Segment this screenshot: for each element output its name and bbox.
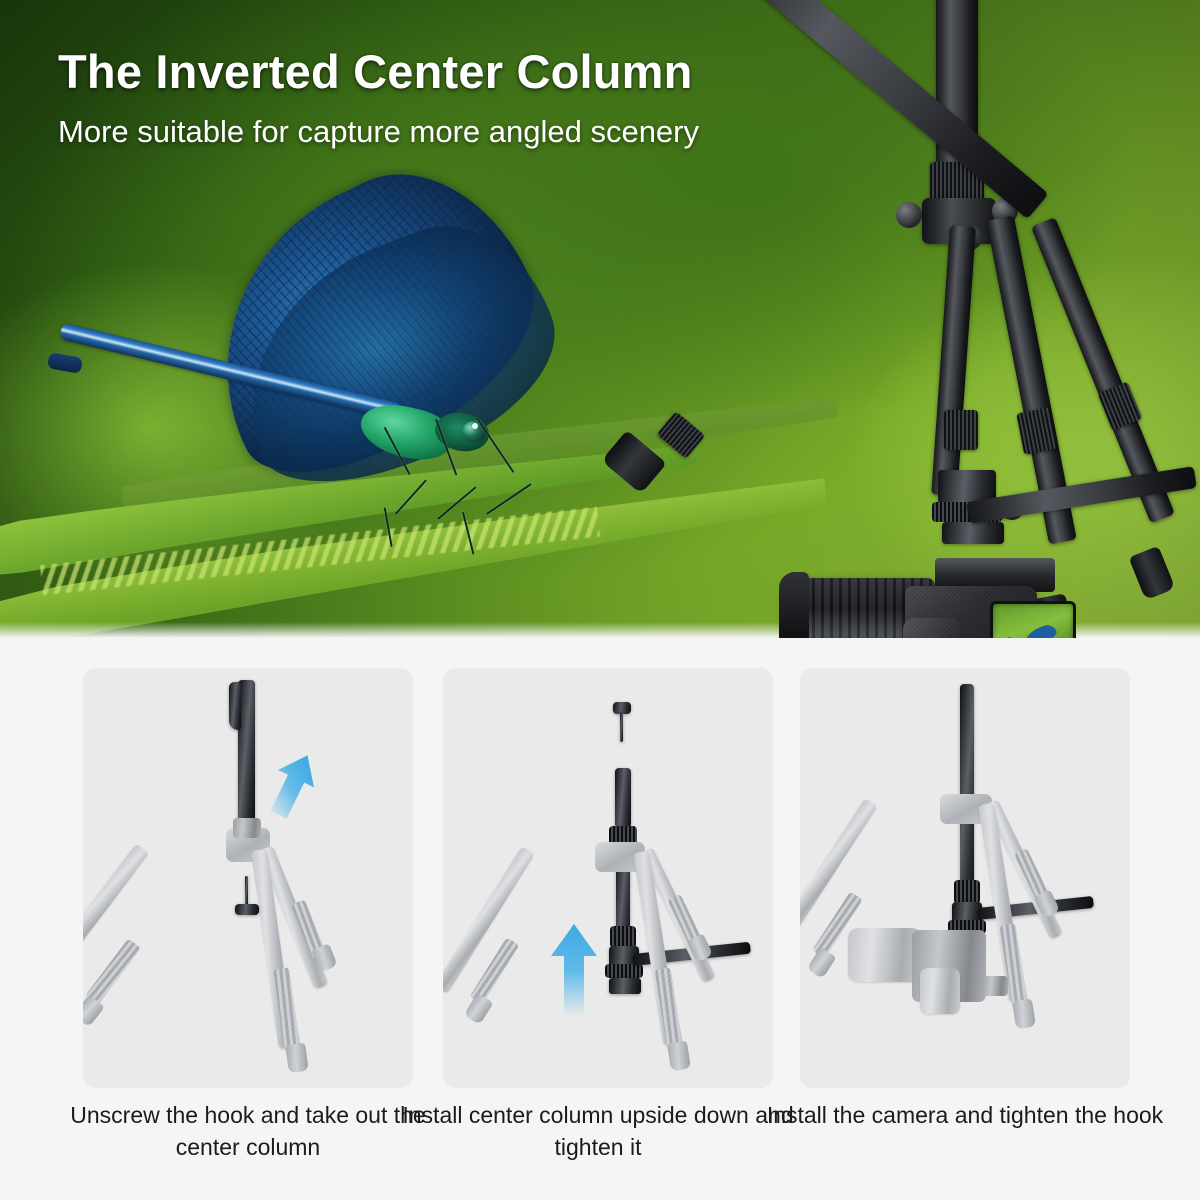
damselfly-legs — [350, 440, 570, 600]
camera-lcd-screen — [993, 604, 1073, 638]
camera-lens-hood — [779, 572, 809, 638]
tripod-product-photo — [700, 0, 1200, 638]
step-captions: Unscrew the hook and take out the center… — [0, 1100, 1200, 1190]
ball-head-lock-inverted — [605, 964, 643, 978]
step-panel-2 — [443, 668, 773, 1088]
step-caption-3: Install the camera and tighten the hook — [765, 1100, 1165, 1132]
detached-column-hook-tab — [229, 682, 241, 730]
tripod-center-rear-lock — [944, 410, 978, 450]
page-title: The Inverted Center Column — [58, 44, 699, 99]
ghost-camera-viewfinder — [982, 976, 1008, 996]
tripod-leg-inverted-arm — [706, 0, 1049, 219]
step-2-arrow-icon — [547, 922, 601, 1018]
quick-release-plate-inverted — [609, 978, 641, 994]
damselfly-eye-highlight — [472, 423, 478, 429]
tripod-leg-left-foot-ghost-2 — [464, 993, 494, 1025]
tripod-leg-angle-knob-left — [896, 202, 922, 228]
hero-text-block: The Inverted Center Column More suitable… — [58, 44, 699, 151]
tripod-leg-right-foot-ghost — [285, 1043, 309, 1074]
tripod-leg-center-rear — [931, 225, 976, 496]
tripod-hook-detached — [245, 876, 248, 906]
step-panel-1 — [83, 668, 413, 1088]
hook-screw-shaft — [620, 712, 623, 742]
camera-grip — [903, 618, 959, 638]
mounted-column-collar — [954, 880, 980, 904]
page-subtitle: More suitable for capture more angled sc… — [58, 113, 699, 150]
tripod-leg-right-foot-ghost-3 — [1012, 999, 1036, 1030]
ghost-camera-grip — [920, 968, 960, 1014]
step-1-arrow-icon — [263, 750, 323, 820]
damselfly-abdomen-tip — [47, 352, 83, 374]
inverted-center-column-top — [615, 768, 631, 828]
camera-grip-texture — [903, 618, 959, 638]
lcd-preview-wing — [1021, 622, 1059, 638]
step-caption-2: Install center column upside down and ti… — [398, 1100, 798, 1163]
dslr-camera — [785, 548, 1095, 638]
step-panel-3 — [800, 668, 1130, 1088]
instruction-panels — [0, 668, 1200, 1092]
tripod-leg-left-segment-ghost — [85, 938, 141, 1005]
tripod-leg-left-foot-ghost-3 — [806, 947, 836, 979]
lcd-preview-image — [1007, 628, 1061, 638]
damselfly-photo — [30, 185, 600, 605]
tripod-column-socket-ghost — [233, 818, 261, 838]
ghost-camera-lens — [848, 928, 922, 982]
step-caption-1: Unscrew the hook and take out the center… — [48, 1100, 448, 1163]
tripod-leg-far-right-foot — [1129, 546, 1176, 601]
tripod-quick-release-plate — [942, 522, 1004, 544]
tripod-hook-head — [235, 904, 259, 915]
inverted-column-lower-collar — [610, 926, 636, 948]
product-feature-image: The Inverted Center Column More suitable… — [0, 0, 1200, 1200]
tripod-leg-right-foot-ghost-2 — [667, 1041, 691, 1072]
